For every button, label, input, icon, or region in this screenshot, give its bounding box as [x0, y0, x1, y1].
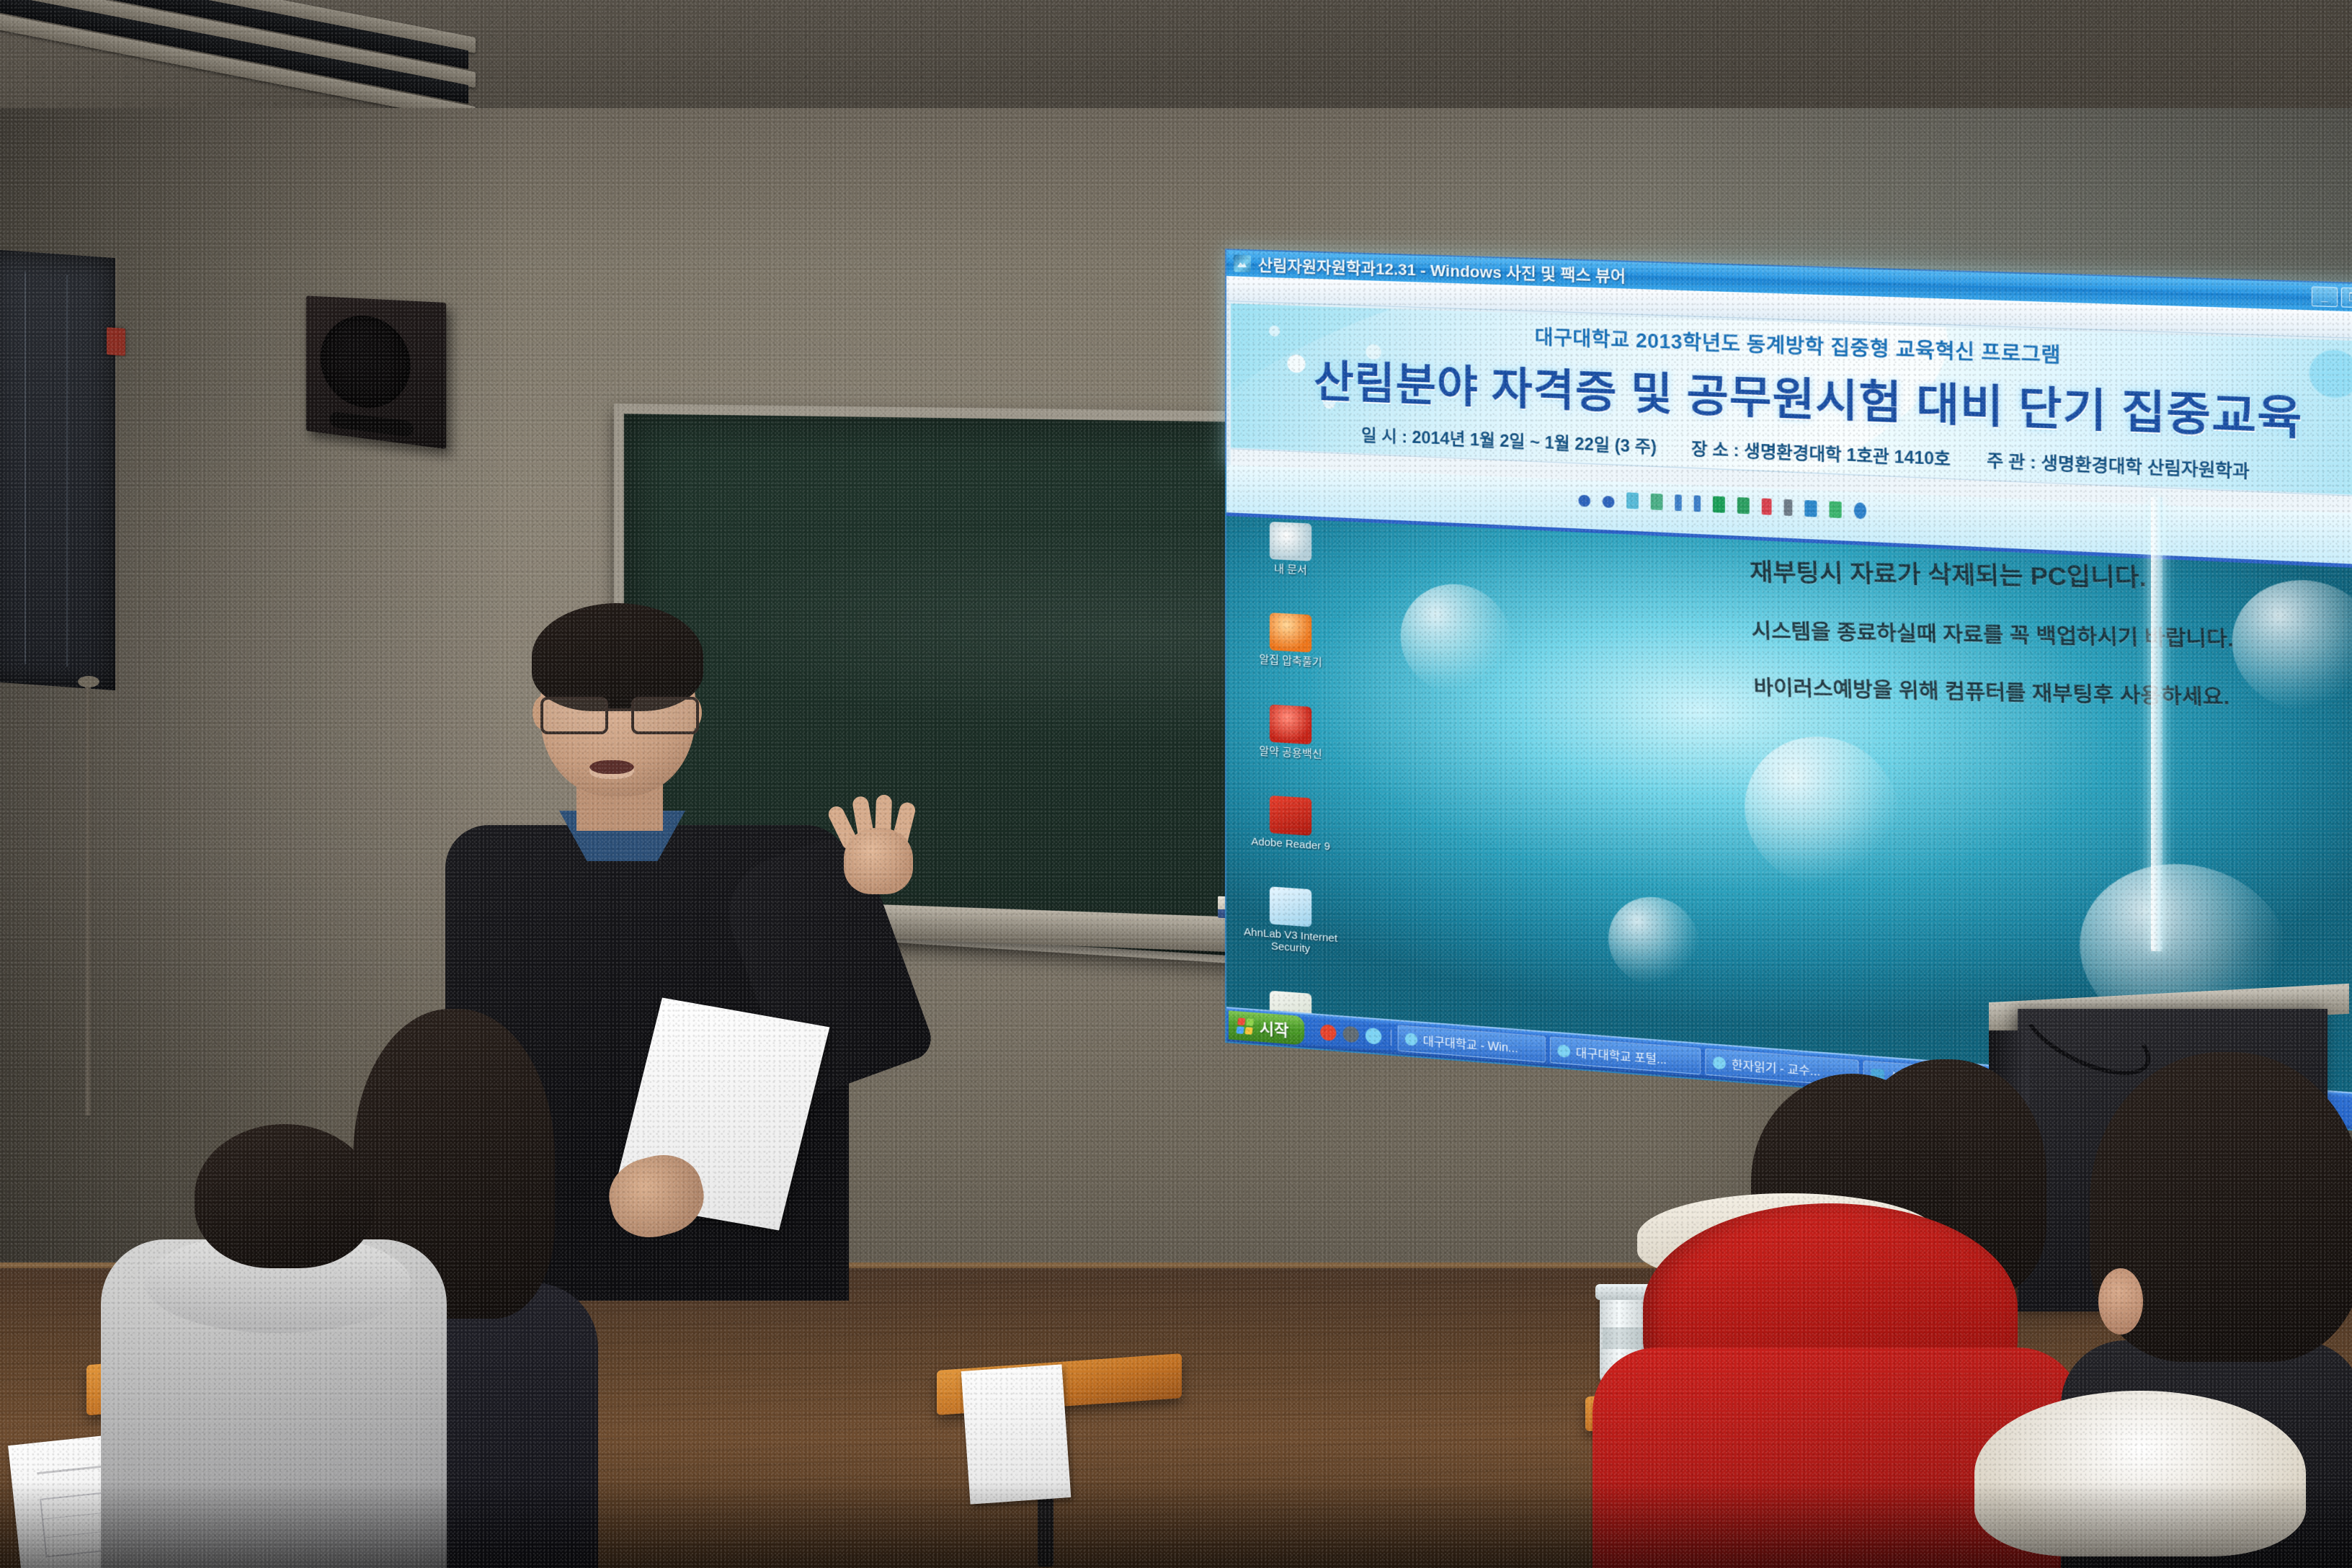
desktop-icon-alzip[interactable]: 알집 압축풀기 — [1237, 611, 1345, 671]
notice-line-3: 바이러스예방을 위해 컴퓨터를 재부팅후 사용하세요. — [1753, 672, 2352, 714]
banner-meta-date: 일 시 : 2014년 1월 2일 ~ 1월 22일 (3 주) — [1361, 422, 1657, 458]
screenshot-root: 산림자원자원학과12.31 - Windows 사진 및 팩스 뷰어 _ ❐ ✕… — [0, 0, 2352, 1568]
white-fur-collar — [1974, 1391, 2306, 1556]
alzip-icon — [1270, 612, 1311, 652]
internet-explorer-icon — [1558, 1044, 1571, 1058]
desktop-icon-label: 알약 공용백신 — [1259, 744, 1322, 761]
maximize-button[interactable]: ❐ — [2341, 288, 2352, 308]
banner-meta-host: 주 관 : 생명환경대학 산림자원학과 — [1987, 446, 2250, 483]
student-ear — [2098, 1268, 2143, 1335]
browser-toolbar-icons[interactable] — [1578, 490, 1866, 519]
wall-conduit-pipe — [85, 683, 91, 1115]
taskbar-item-label: 대구대학교 - Win... — [1423, 1031, 1518, 1056]
alyak-icon — [1270, 704, 1311, 744]
desktop-icon-label: Adobe Reader 9 — [1251, 835, 1330, 853]
start-button-label: 시작 — [1260, 1016, 1289, 1041]
speaker-cone — [321, 313, 411, 413]
ahnlab-v3-icon — [1270, 886, 1311, 927]
presenter-glasses — [540, 697, 696, 730]
student-gray-hoodie — [101, 1124, 447, 1568]
wallpaper-bubble — [1401, 582, 1512, 697]
presenter-mouth — [589, 760, 634, 779]
desktop-icon-label: 내 문서 — [1274, 563, 1307, 577]
wall-conduit-cap — [78, 676, 99, 687]
desktop-icon-label: 알집 압축풀기 — [1259, 654, 1322, 669]
desktop-icon-alyak[interactable]: 알약 공용백신 — [1237, 702, 1345, 762]
notice-line-1: 재부팅시 자료가 삭제되는 PC입니다. — [1749, 552, 2351, 597]
taskbar-item-daegu-univ-window[interactable]: 대구대학교 - Win... — [1398, 1025, 1546, 1062]
banner-meta-place: 장 소 : 생명환경대학 1호관 1410호 — [1691, 435, 1951, 471]
desktop-icon-label: AhnLab V3 Internet Security — [1237, 925, 1345, 958]
wall-speaker — [306, 295, 446, 449]
handout-paper — [961, 1364, 1072, 1504]
taskbar-item-label: 한자읽기 - 교수... — [1732, 1055, 1820, 1079]
taped-sign-edge — [2151, 497, 2162, 952]
desktop-icon-adobe-reader[interactable]: Adobe Reader 9 — [1237, 793, 1345, 854]
windows-flag-icon — [1236, 1017, 1254, 1034]
internet-explorer-icon — [1713, 1056, 1726, 1069]
alyak-tray-icon[interactable] — [1321, 1024, 1337, 1041]
taskbar-item-daegu-univ-portal[interactable]: 대구대학교 포털... — [1551, 1036, 1701, 1074]
taskbar-item-label: 대구대학교 포털... — [1576, 1043, 1667, 1067]
wallpaper-bubble — [1608, 894, 1699, 989]
internet-explorer-icon[interactable] — [1366, 1028, 1381, 1045]
handwritten-notice-sign: 재부팅시 자료가 삭제되는 PC입니다. 시스템을 종료하실때 자료를 꼭 백업… — [1741, 542, 2352, 787]
quick-launch-bar[interactable] — [1312, 1023, 1392, 1046]
my-documents-icon — [1270, 522, 1311, 561]
student-white-fur-collar — [2061, 1052, 2352, 1568]
media-player-icon[interactable] — [1343, 1026, 1359, 1043]
desktop-icon-my-documents[interactable]: 내 문서 — [1237, 520, 1345, 579]
presenter-hair — [532, 603, 703, 711]
adobe-reader-icon — [1270, 796, 1311, 836]
notice-line-2: 시스템을 종료하실때 자료를 꼭 백업하시기 바랍니다. — [1751, 615, 2352, 656]
wall-red-marker — [107, 327, 125, 356]
student-hair — [195, 1124, 375, 1268]
internet-explorer-icon — [1405, 1033, 1417, 1046]
presenter-open-hand — [832, 802, 925, 897]
left-wall-window — [0, 249, 119, 691]
desktop-icon-list[interactable]: 내 문서 알집 압축풀기 알약 공용백신 Adobe Reader 9 AhnL… — [1237, 520, 1345, 1050]
minimize-button[interactable]: _ — [2312, 286, 2338, 307]
speaker-port — [329, 411, 413, 437]
desktop-icon-ahnlab-v3[interactable]: AhnLab V3 Internet Security — [1237, 884, 1345, 958]
start-button[interactable]: 시작 — [1229, 1010, 1305, 1045]
window-controls[interactable]: _ ❐ ✕ — [2312, 286, 2352, 308]
photo-viewer-icon — [1234, 254, 1251, 272]
